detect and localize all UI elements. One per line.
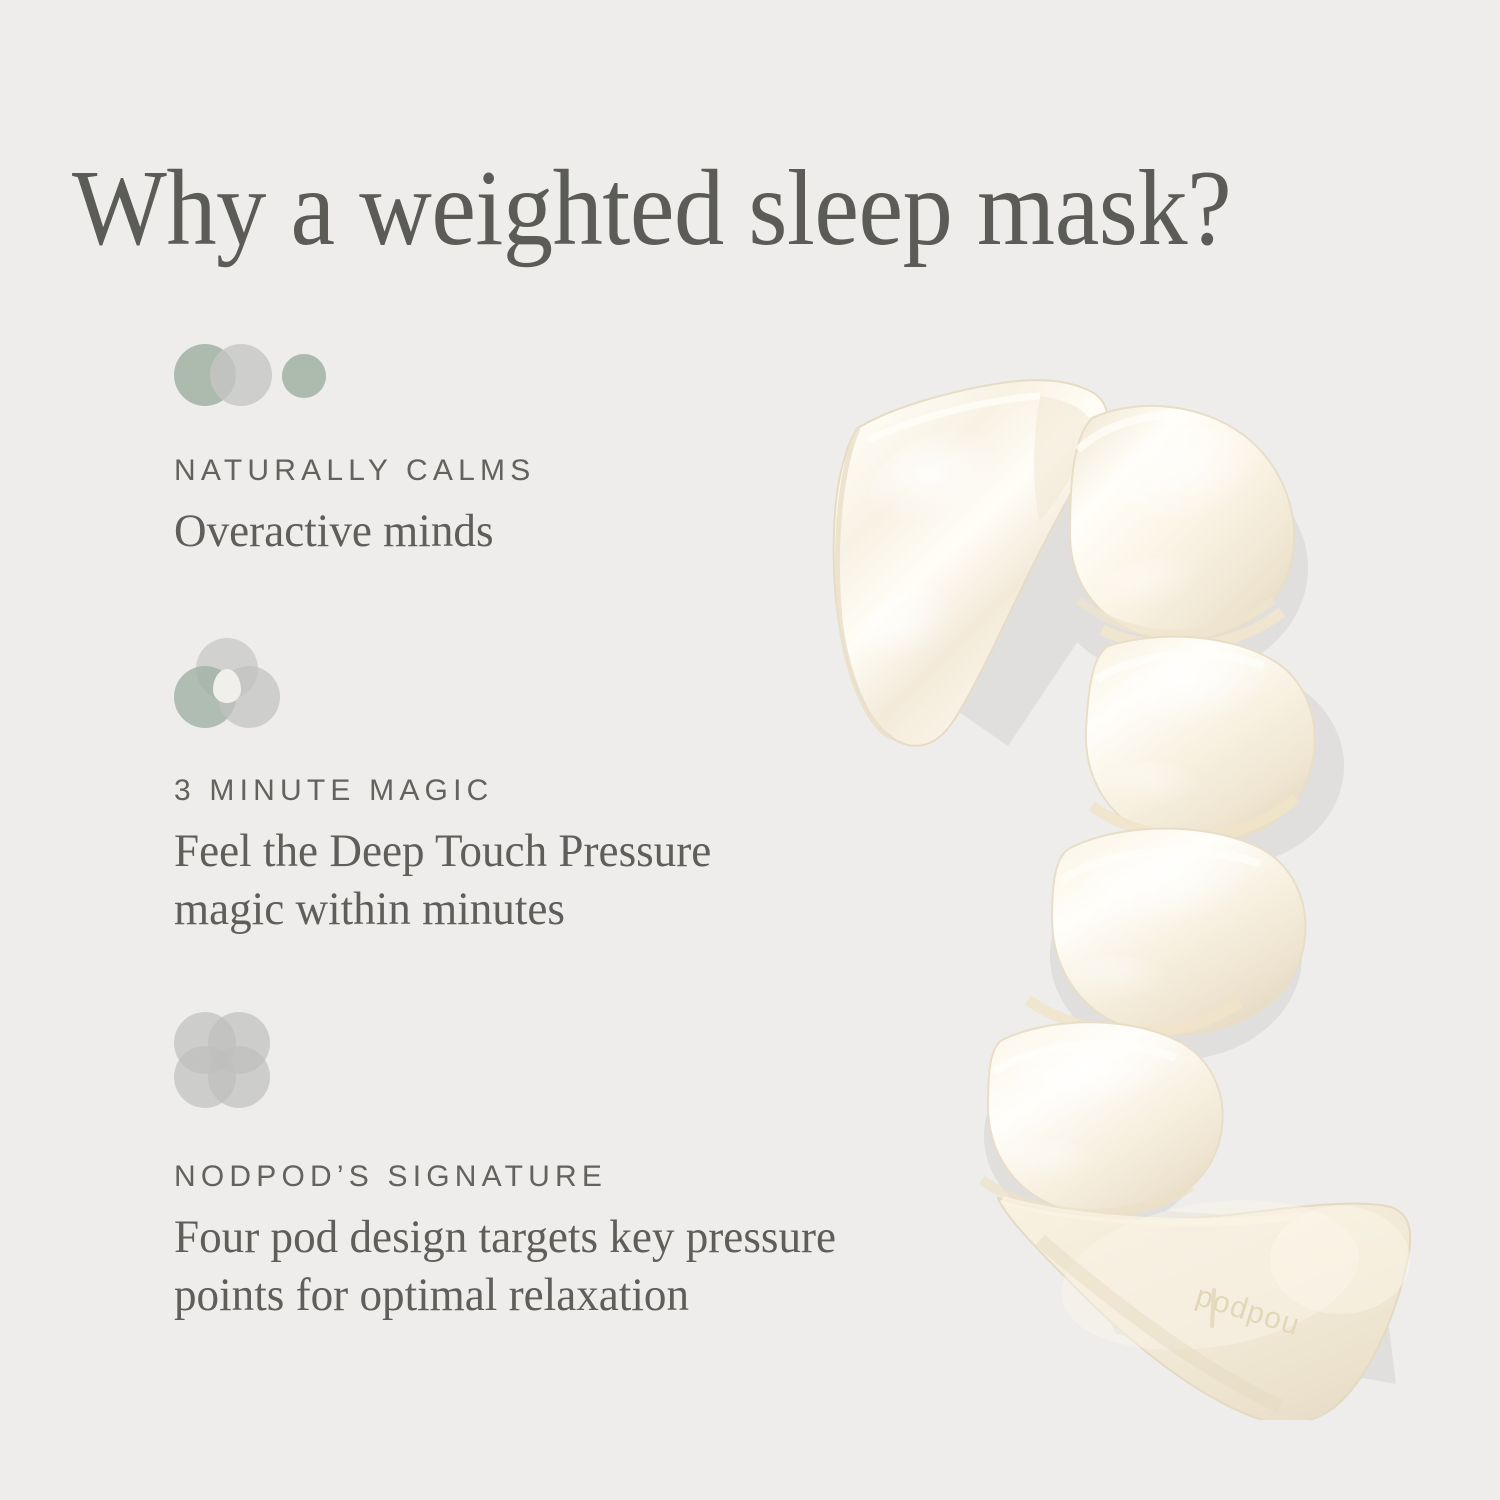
circle-grey-large xyxy=(210,344,272,406)
feature-item-naturally-calms: NATURALLY CALMS Overactive minds xyxy=(174,340,535,560)
mask-bottom-wing: nodpod xyxy=(998,1180,1410,1420)
quad-circle-bottom-right xyxy=(208,1046,270,1108)
four-overlapping-circles-icon xyxy=(174,1012,324,1108)
feature-body-text: Four pod design targets key pressure poi… xyxy=(174,1208,836,1325)
circle-sage-small xyxy=(282,354,326,398)
feature-item-three-minute-magic: 3 MINUTE MAGIC Feel the Deep Touch Press… xyxy=(174,638,734,939)
infographic-page: Why a weighted sleep mask? NATURALLY CAL… xyxy=(0,0,1500,1500)
weighted-sleep-mask-photo: nodpod xyxy=(740,300,1500,1420)
three-circle-venn-icon xyxy=(174,638,324,724)
mask-pod-3 xyxy=(1052,829,1306,1035)
two-overlapping-circles-plus-dot-icon xyxy=(174,340,324,412)
feature-eyebrow-label: NATURALLY CALMS xyxy=(174,454,535,488)
feature-eyebrow-label: 3 MINUTE MAGIC xyxy=(174,774,734,808)
venn-center-highlight xyxy=(213,669,241,703)
mask-pod-1 xyxy=(1070,406,1294,641)
feature-body-text: Overactive minds xyxy=(174,502,521,560)
page-title: Why a weighted sleep mask? xyxy=(72,152,1374,266)
feature-body-text: Feel the Deep Touch Pressure magic withi… xyxy=(174,822,711,939)
